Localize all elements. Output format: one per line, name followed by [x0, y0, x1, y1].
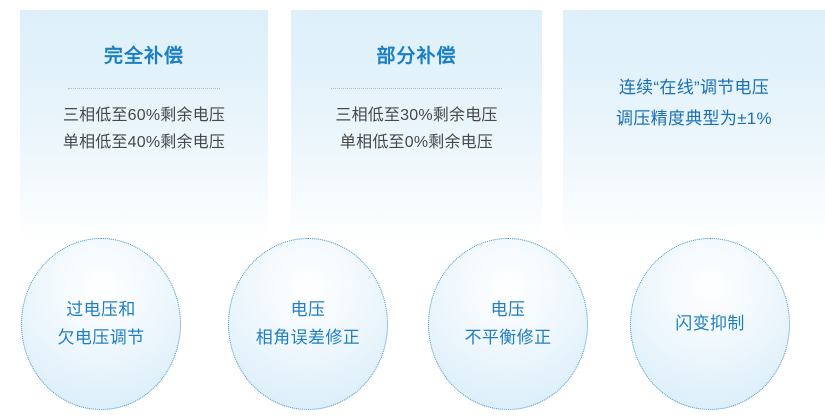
panel-title: 部分补偿 — [291, 44, 542, 70]
panel-online-regulation: 连续“在线”调节电压 调压精度典型为±1% — [563, 10, 825, 240]
circle-label-line: 欠电压调节 — [58, 324, 145, 352]
panel-body-line: 连续“在线”调节电压 — [563, 72, 825, 103]
panel-body-line: 单相低至40%剩余电压 — [20, 129, 268, 156]
panel-body-line: 调压精度典型为±1% — [563, 103, 825, 134]
circle-label: 过电压和 欠电压调节 — [58, 296, 145, 352]
circle-unbalance-correction: 电压 不平衡修正 — [428, 238, 588, 410]
circle-label-line: 闪变抑制 — [675, 310, 745, 338]
panel-partial-compensation: 部分补偿 三相低至30%剩余电压 单相低至0%剩余电压 — [291, 10, 542, 240]
circle-voltage-regulation: 过电压和 欠电压调节 — [21, 238, 181, 410]
panel-body: 三相低至30%剩余电压 单相低至0%剩余电压 — [291, 102, 542, 156]
circle-label-line: 相角误差修正 — [256, 324, 360, 352]
panel-divider — [331, 88, 502, 89]
circle-label: 闪变抑制 — [675, 310, 745, 338]
circle-label-line: 过电压和 — [58, 296, 145, 324]
circle-label: 电压 相角误差修正 — [256, 296, 360, 352]
circle-flicker-suppression: 闪变抑制 — [630, 238, 790, 410]
feature-circles-row: 过电压和 欠电压调节 电压 相角误差修正 电压 不平衡修正 闪变抑制 — [0, 225, 825, 416]
panel-title: 完全补偿 — [20, 44, 268, 70]
circle-phase-angle-correction: 电压 相角误差修正 — [228, 238, 388, 410]
panel-body-line: 单相低至0%剩余电压 — [291, 129, 542, 156]
panel-body-line: 三相低至30%剩余电压 — [291, 102, 542, 129]
infographic-stage: 完全补偿 三相低至60%剩余电压 单相低至40%剩余电压 部分补偿 三相低至30… — [0, 0, 825, 416]
panel-body: 三相低至60%剩余电压 单相低至40%剩余电压 — [20, 102, 268, 156]
panel-body: 连续“在线”调节电压 调压精度典型为±1% — [563, 72, 825, 134]
circle-label-line: 电压 — [465, 296, 552, 324]
panel-full-compensation: 完全补偿 三相低至60%剩余电压 单相低至40%剩余电压 — [20, 10, 268, 240]
circle-label-line: 不平衡修正 — [465, 324, 552, 352]
feature-panels-row: 完全补偿 三相低至60%剩余电压 单相低至40%剩余电压 部分补偿 三相低至30… — [0, 0, 825, 240]
circle-label-line: 电压 — [256, 296, 360, 324]
panel-body-line: 三相低至60%剩余电压 — [20, 102, 268, 129]
circle-label: 电压 不平衡修正 — [465, 296, 552, 352]
panel-divider — [68, 88, 220, 89]
